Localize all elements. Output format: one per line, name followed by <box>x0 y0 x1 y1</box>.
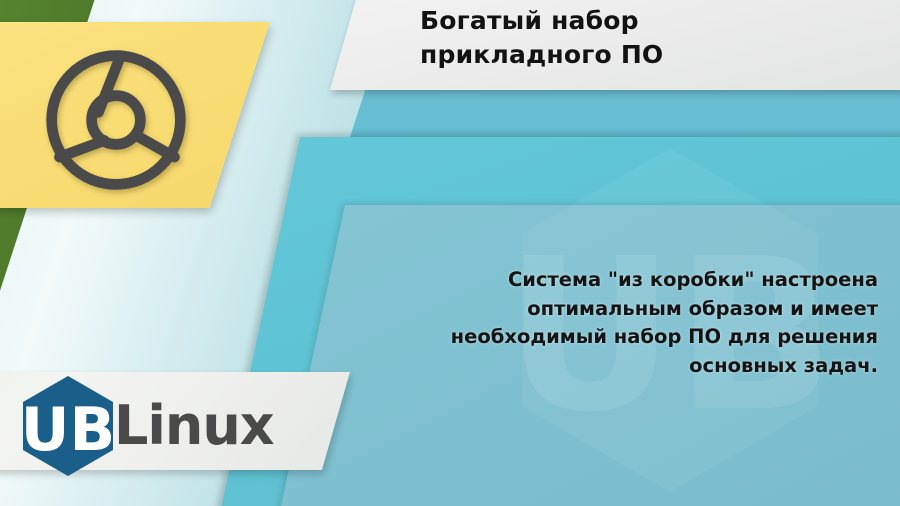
body-text: Система "из коробки" настроена оптимальн… <box>418 266 878 381</box>
brand-logo: UB Linux <box>20 374 274 478</box>
title-line-2: прикладного ПО <box>420 38 890 72</box>
title-line-1: Богатый набор <box>420 4 890 38</box>
page-title: Богатый набор прикладного ПО <box>420 4 890 71</box>
body-line-3: необходимый набор ПО для решения <box>418 323 878 352</box>
chrome-aperture-icon <box>38 42 194 198</box>
body-line-1: Система "из коробки" настроена <box>418 266 878 295</box>
ub-mark-label: UB <box>21 395 115 465</box>
ub-hexagon-icon: UB <box>20 374 116 478</box>
presentation-slide: UB Богатый набор прикладного ПО Система … <box>0 0 900 506</box>
body-line-2: оптимальным образом и имеет <box>418 295 878 324</box>
body-line-4: основных задач. <box>418 352 878 381</box>
brand-name-label: Linux <box>114 399 274 453</box>
